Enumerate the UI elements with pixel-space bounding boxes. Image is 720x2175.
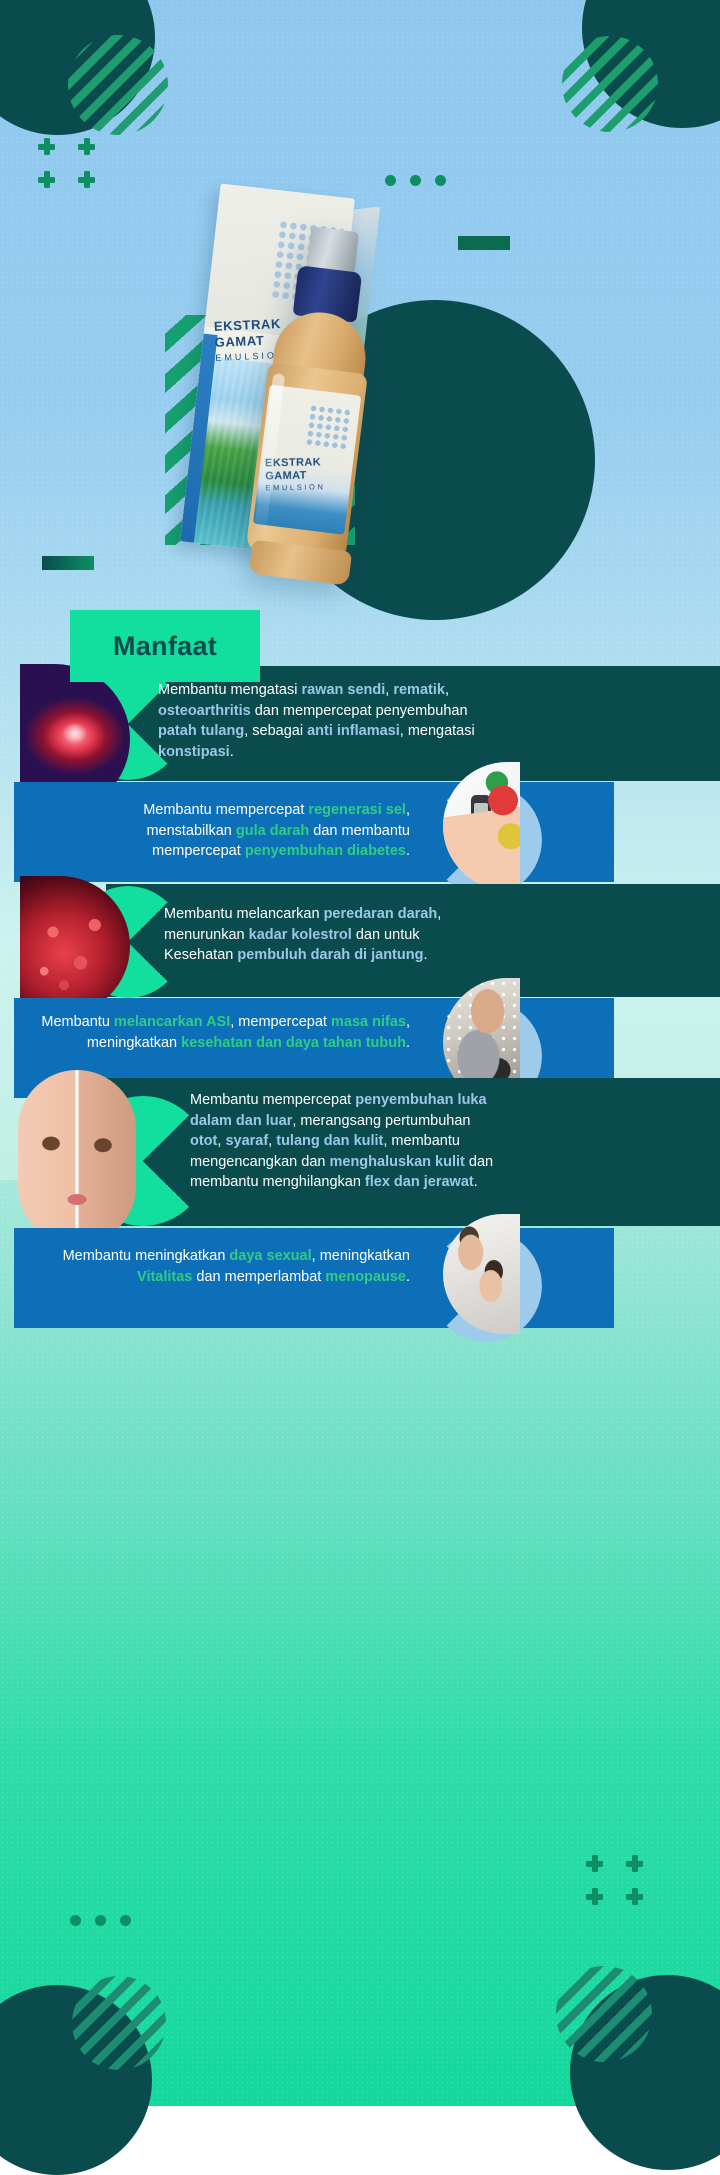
- benefit-text: Membantu mempercepat regenerasi sel, men…: [58, 800, 410, 862]
- benefit-text: Membantu melancarkan ASI, mempercepat ma…: [40, 1012, 410, 1053]
- glucometer-device: [471, 795, 491, 856]
- section-title-text: Manfaat: [113, 631, 217, 662]
- benefits-list: Membantu mengatasi rawan sendi, rematik,…: [0, 0, 720, 2106]
- face-skin-photo: [18, 1070, 136, 1245]
- benefit-text: Membantu meningkatkan daya sexual, menin…: [46, 1246, 410, 1287]
- blood-cells-photo: [20, 876, 130, 1016]
- benefit-text: Membantu mengatasi rawan sendi, rematik,…: [158, 680, 498, 762]
- glucometer-fruit-photo: [443, 762, 520, 890]
- benefit-text: Membantu mempercepat penyembuhan luka da…: [190, 1090, 502, 1193]
- section-title-manfaat: Manfaat: [70, 610, 260, 682]
- couple-bed-photo: [443, 1214, 520, 1334]
- benefit-text: Membantu melancarkan peredaran darah, me…: [164, 904, 484, 966]
